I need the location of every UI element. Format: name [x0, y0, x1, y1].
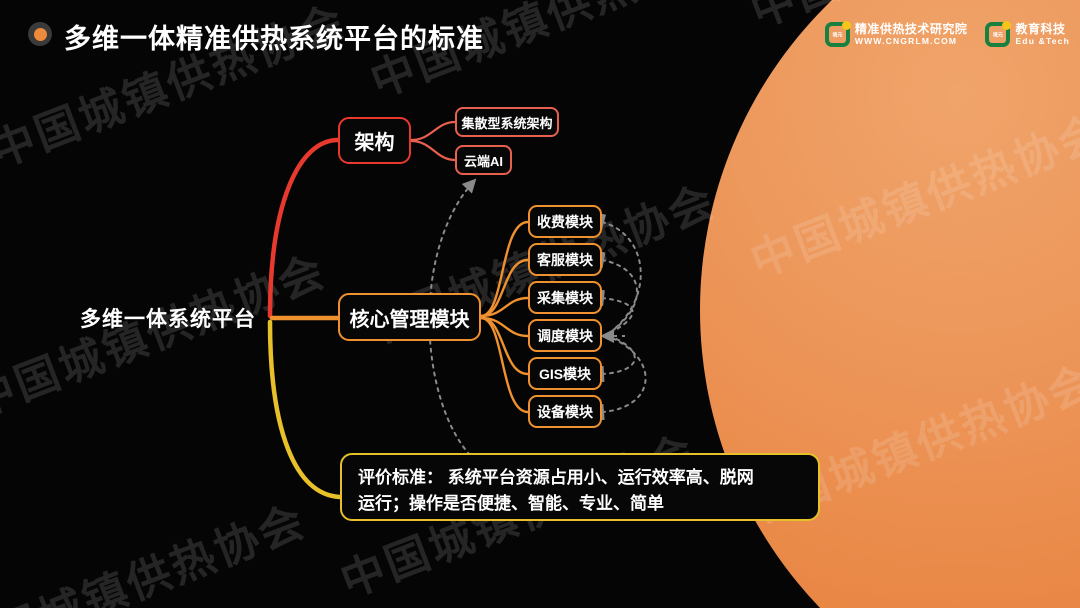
dashed-link-charge-to-dispatch	[602, 222, 641, 334]
node-architecture-label: 架构	[355, 126, 395, 155]
link-arch-to-child-2	[411, 141, 455, 160]
node-module-collection[interactable]: 采集模块	[528, 281, 602, 314]
node-module-dispatch-label: 调度模块	[537, 326, 593, 346]
criteria-line-2: 运行；操作是否便捷、智能、专业、简单	[358, 491, 664, 517]
link-root-to-criteria	[270, 322, 340, 497]
dashed-link-collect-to-dispatch	[602, 298, 633, 334]
node-architecture[interactable]: 架构	[338, 117, 411, 164]
dashed-link-gis-to-dispatch	[602, 336, 635, 374]
node-distributed-architecture-label: 集散型系统架构	[461, 113, 552, 132]
node-module-device-label: 设备模块	[537, 402, 593, 422]
dashed-link-service-to-dispatch	[602, 260, 637, 334]
criteria-line-1: 评价标准： 系统平台资源占用小、运行效率高、脱网	[358, 465, 754, 491]
node-module-dispatch[interactable]: 调度模块	[528, 319, 602, 352]
link-root-to-architecture	[270, 140, 338, 316]
root-node-label: 多维一体系统平台	[80, 303, 256, 333]
node-core-management-module-label: 核心管理模块	[350, 303, 470, 332]
node-module-device[interactable]: 设备模块	[528, 395, 602, 428]
slide-canvas: 中国城镇供热协会 中国城镇供热协会 中国城镇供热协会 中国城镇供热协会 中国城镇…	[0, 0, 1080, 608]
node-module-customer-service[interactable]: 客服模块	[528, 243, 602, 276]
node-module-charging-label: 收费模块	[537, 212, 593, 232]
root-node[interactable]: 多维一体系统平台	[66, 302, 270, 334]
link-core-to-module-6	[481, 318, 528, 412]
dashed-link-device-to-dispatch	[602, 337, 646, 412]
node-core-management-module[interactable]: 核心管理模块	[338, 293, 481, 341]
node-cloud-ai[interactable]: 云端AI	[455, 145, 512, 175]
node-evaluation-criteria[interactable]: 评价标准： 系统平台资源占用小、运行效率高、脱网 运行；操作是否便捷、智能、专业…	[340, 453, 820, 521]
node-distributed-architecture[interactable]: 集散型系统架构	[455, 107, 559, 137]
node-module-gis[interactable]: GIS模块	[528, 357, 602, 390]
node-module-collection-label: 采集模块	[537, 288, 593, 308]
link-arch-to-child-1	[411, 122, 455, 140]
node-module-gis-label: GIS模块	[539, 364, 591, 384]
link-core-to-module-1	[481, 222, 528, 316]
node-cloud-ai-label: 云端AI	[464, 151, 503, 170]
node-module-charging[interactable]: 收费模块	[528, 205, 602, 238]
node-module-customer-service-label: 客服模块	[537, 250, 593, 270]
